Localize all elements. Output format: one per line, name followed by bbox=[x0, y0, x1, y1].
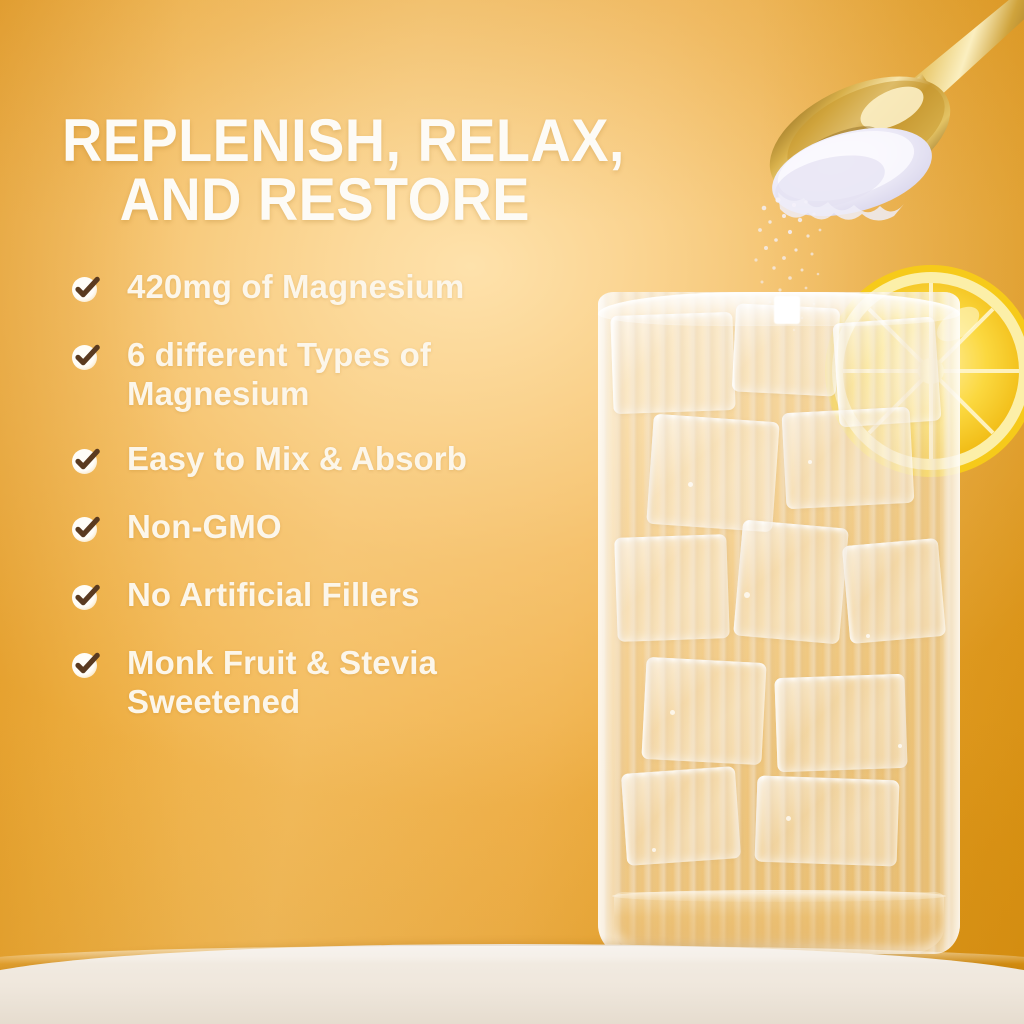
gold-spoon-icon bbox=[742, 0, 1024, 236]
check-icon bbox=[70, 508, 104, 550]
product-marketing-image: REPLENISH, RELAX, AND RESTORE 420mg of M… bbox=[0, 0, 1024, 1024]
list-item-label: Monk Fruit & Stevia Sweetened bbox=[127, 644, 590, 722]
list-item: Monk Fruit & Stevia Sweetened bbox=[70, 644, 590, 722]
headline-line-1: REPLENISH, RELAX, bbox=[62, 112, 639, 171]
fluted-drinking-glass bbox=[598, 292, 960, 954]
rim-highlight bbox=[774, 296, 800, 324]
list-item: Easy to Mix & Absorb bbox=[70, 440, 590, 482]
list-item-label: Easy to Mix & Absorb bbox=[127, 440, 467, 479]
check-icon bbox=[70, 440, 104, 482]
page-title: REPLENISH, RELAX, AND RESTORE bbox=[62, 112, 639, 230]
check-icon bbox=[70, 644, 104, 686]
benefits-list: 420mg of Magnesium 6 different Types of … bbox=[70, 268, 590, 722]
list-item-label: 6 different Types of Magnesium bbox=[127, 336, 590, 414]
list-item: No Artificial Fillers bbox=[70, 576, 590, 618]
table-surface bbox=[0, 944, 1024, 1024]
list-item-label: No Artificial Fillers bbox=[127, 576, 419, 615]
check-icon bbox=[70, 336, 104, 378]
list-item: Non-GMO bbox=[70, 508, 590, 550]
list-item: 420mg of Magnesium bbox=[70, 268, 590, 310]
headline-line-2: AND RESTORE bbox=[62, 171, 639, 230]
list-item-label: Non-GMO bbox=[127, 508, 282, 547]
check-icon bbox=[70, 268, 104, 310]
list-item-label: 420mg of Magnesium bbox=[127, 268, 464, 307]
check-icon bbox=[70, 576, 104, 618]
list-item: 6 different Types of Magnesium bbox=[70, 336, 590, 414]
